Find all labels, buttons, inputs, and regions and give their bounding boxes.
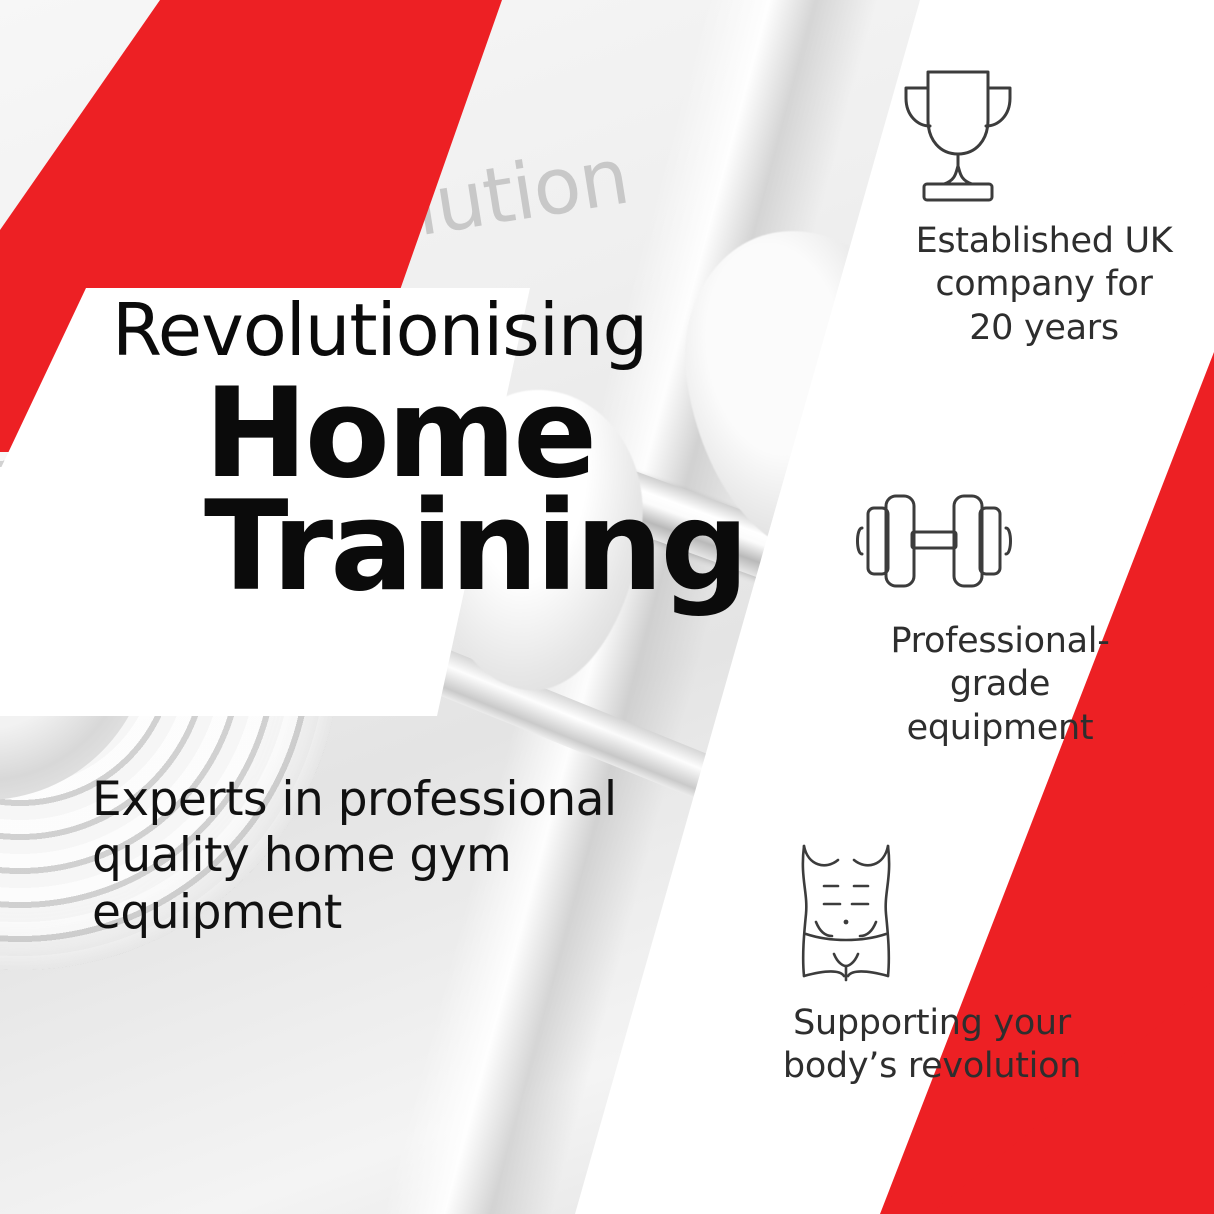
headline-line-1: Revolutionising: [112, 288, 647, 372]
feature-item-body: Supporting your body’s revolution: [782, 838, 1082, 1089]
trophy-check-icon: [894, 62, 1194, 204]
feature-list: Established UK company for 20 years Prof…: [742, 0, 1182, 1214]
torso-abs-icon: [782, 838, 1082, 986]
feature-item-established: Established UK company for 20 years: [894, 62, 1194, 350]
subcopy-text: Experts in professional quality home gym…: [92, 772, 672, 941]
feature-label: Established UK company for 20 years: [894, 220, 1194, 350]
promo-banner: revolution Revolutionising Home Training…: [0, 0, 1214, 1214]
feature-item-equipment: Professional-grade equipment: [850, 478, 1150, 750]
feature-label: Professional-grade equipment: [850, 620, 1150, 750]
dumbbell-icon: [850, 478, 1150, 604]
feature-label: Supporting your body’s revolution: [782, 1002, 1082, 1089]
